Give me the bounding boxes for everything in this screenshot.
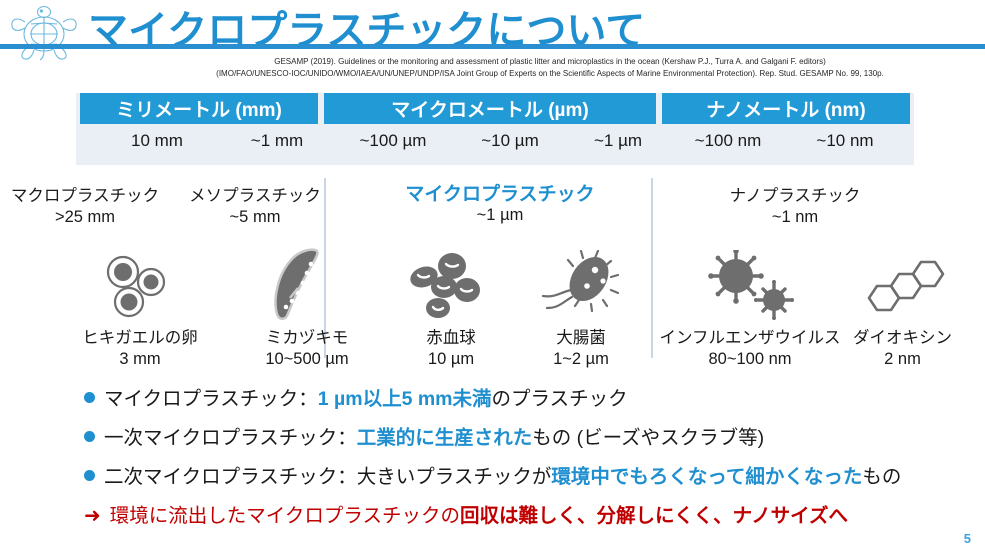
frog-eggs-icon <box>60 248 220 320</box>
bullet-text-pre: マイクロプラスチック： <box>104 386 318 412</box>
arrow-right-icon: ➜ <box>84 503 101 529</box>
sea-turtle-logo-icon <box>6 2 82 64</box>
example-label: ミカヅキモ 10~500 µm <box>222 328 392 370</box>
unit-bar-group: ミリメートル (mm) マイクロメートル (µm) ナノメートル (nm) <box>76 93 914 125</box>
example-label: インフルエンザウイルス 80~100 nm <box>655 328 845 370</box>
example-name: ダイオキシン <box>840 328 965 349</box>
bullet-list: マイクロプラスチック： 1 µm以上5 mm未満 のプラスチック 一次マイクロプ… <box>84 386 974 529</box>
bullet-text-post: もの (ビーズやスクラブ等) <box>532 425 764 451</box>
scale-tick: ~100 nm <box>668 127 788 155</box>
bullet-text-highlight: 環境中でもろくなって細かくなった <box>551 464 862 490</box>
influenza-virus-icon <box>668 248 833 320</box>
conclusion-text-pre: 環境に流出したマイクロプラスチックの <box>110 503 460 529</box>
example-name: インフルエンザウイルス <box>655 328 845 349</box>
example-label: 大腸菌 1~2 µm <box>516 328 646 370</box>
category-name: マイクロプラスチック <box>340 184 660 205</box>
category-name: メソプラスチック <box>170 186 340 207</box>
category-microplastic: マイクロプラスチック ~1 µm <box>340 184 660 226</box>
e-coli-bacteria-icon <box>520 248 640 320</box>
example-name: 赤血球 <box>386 328 516 349</box>
dioxin-molecule-icon <box>840 248 960 320</box>
citation-line-1: GESAMP (2019). Guidelines or the monitor… <box>120 56 980 68</box>
bullet-dot-icon <box>84 431 95 442</box>
closterium-algae-icon <box>222 248 382 320</box>
conclusion-line: ➜ 環境に流出したマイクロプラスチックの 回収は難しく、分解しにくく、ナノサイズ… <box>84 503 974 529</box>
slide-header: マイクロプラスチックについて <box>0 0 985 52</box>
citation-block: GESAMP (2019). Guidelines or the monitor… <box>120 56 980 79</box>
example-label: 赤血球 10 µm <box>386 328 516 370</box>
category-size: ~1 nm <box>660 207 930 228</box>
bullet-text-pre: 一次マイクロプラスチック： <box>104 425 357 451</box>
example-label: ヒキガエルの卵 3 mm <box>50 328 230 370</box>
example-size: 2 nm <box>840 349 965 370</box>
scale-tick: ~1 µm <box>568 127 668 155</box>
bullet-text-post: のプラスチック <box>492 386 628 412</box>
red-blood-cells-icon <box>386 248 516 320</box>
example-size: 1~2 µm <box>516 349 646 370</box>
unit-bar-nanometer: ナノメートル (nm) <box>662 93 910 124</box>
example-name: ヒキガエルの卵 <box>50 328 230 349</box>
bullet-item-primary-microplastic: 一次マイクロプラスチック： 工業的に生産された もの (ビーズやスクラブ等) <box>84 425 974 451</box>
category-mesoplastic: メソプラスチック ~5 mm <box>170 186 340 228</box>
bullet-dot-icon <box>84 470 95 481</box>
category-size: >25 mm <box>0 207 170 228</box>
title-underline-rule <box>0 44 985 49</box>
bullet-text-highlight: 工業的に生産された <box>357 425 533 451</box>
category-name: ナノプラスチック <box>660 186 930 207</box>
bullet-text-pre: 二次マイクロプラスチック：大きいプラスチックが <box>104 464 551 490</box>
category-name: マクロプラスチック <box>0 186 170 207</box>
category-size: ~5 mm <box>170 207 340 228</box>
example-size: 10~500 µm <box>222 349 392 370</box>
unit-bar-millimeter: ミリメートル (mm) <box>80 93 318 124</box>
scale-tick: ~100 µm <box>334 127 452 155</box>
scale-tick: ~10 µm <box>458 127 562 155</box>
bullet-dot-icon <box>84 392 95 403</box>
example-size: 80~100 nm <box>655 349 845 370</box>
scale-tick-group: 10 mm ~1 mm ~100 µm ~10 µm ~1 µm ~100 nm… <box>76 127 914 157</box>
unit-bar-micrometer: マイクロメートル (µm) <box>324 93 656 124</box>
bullet-text-post: もの <box>862 464 901 490</box>
example-size: 3 mm <box>50 349 230 370</box>
category-macroplastic: マクロプラスチック >25 mm <box>0 186 170 228</box>
scale-band: ミリメートル (mm) マイクロメートル (µm) ナノメートル (nm) 10… <box>76 93 914 165</box>
bullet-text-highlight: 1 µm以上5 mm未満 <box>318 386 492 412</box>
category-size: ~1 µm <box>340 205 660 226</box>
category-nanoplastic: ナノプラスチック ~1 nm <box>660 186 930 228</box>
example-name: ミカヅキモ <box>222 328 392 349</box>
example-name: 大腸菌 <box>516 328 646 349</box>
scale-tick: ~1 mm <box>222 127 332 155</box>
scale-tick: 10 mm <box>102 127 212 155</box>
scale-tick: ~10 nm <box>790 127 900 155</box>
citation-line-2: (IMO/FAO/UNESCO-IOC/UNIDO/WMO/IAEA/UN/UN… <box>120 68 980 80</box>
page-number: 5 <box>964 531 971 546</box>
example-size: 10 µm <box>386 349 516 370</box>
conclusion-text-strong: 回収は難しく、分解しにくく、ナノサイズへ <box>460 503 848 529</box>
bullet-item-secondary-microplastic: 二次マイクロプラスチック：大きいプラスチックが 環境中でもろくなって細かくなった… <box>84 464 974 490</box>
example-label: ダイオキシン 2 nm <box>840 328 965 370</box>
bullet-item-microplastic: マイクロプラスチック： 1 µm以上5 mm未満 のプラスチック <box>84 386 974 412</box>
